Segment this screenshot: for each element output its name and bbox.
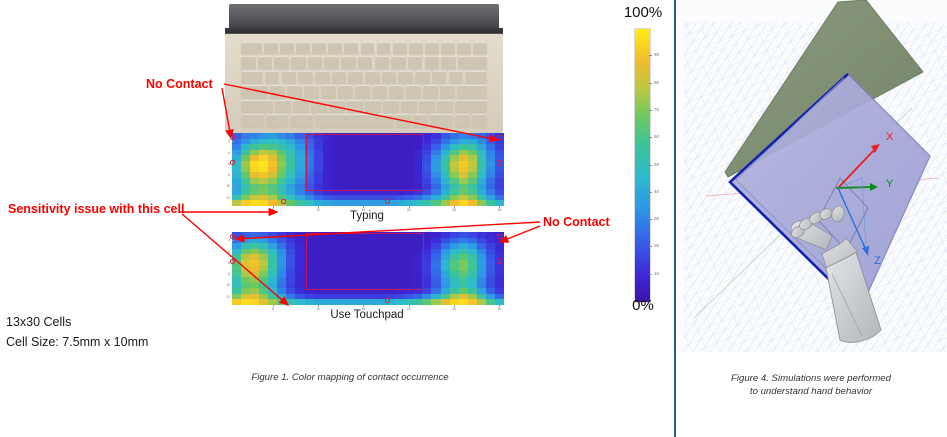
keyboard-key [348, 71, 363, 83]
keyboard-key [241, 85, 268, 97]
keyboard-key [241, 114, 264, 126]
heatmap-typing: 51015202530 24681012 Typing [228, 131, 506, 221]
keyboard-key [457, 85, 487, 97]
keyboard-key [361, 42, 375, 54]
marker-left2-touchpad [230, 259, 235, 264]
keyboard-key [458, 56, 487, 68]
marker-no-contact-r2-typing [497, 160, 502, 165]
keyboard-key [241, 56, 256, 68]
laptop-base [225, 34, 503, 136]
heatmap-use-touchpad-y-axis: 24681012 [219, 232, 231, 305]
keyboard-key [241, 71, 263, 83]
keyboard-key [423, 85, 438, 97]
spec-grid-size: 13x30 Cells [6, 312, 148, 332]
keyboard-row [241, 114, 487, 126]
keyboard-key [455, 100, 487, 112]
y-tick-mark [232, 285, 234, 286]
laptop-lid [229, 4, 499, 30]
keyboard-key [311, 100, 327, 112]
keyboard-key [425, 42, 439, 54]
keyboard-key [241, 42, 262, 54]
colorbar-tick-mark [649, 219, 652, 220]
y-tick-mark [232, 252, 234, 253]
keyboard-key [457, 42, 471, 54]
keyboard-key [415, 71, 430, 83]
right-figure-panel: X Y Z Figure 4. Simulations were perform… [676, 0, 947, 437]
keyboard-key [372, 85, 387, 97]
keyboard-key [293, 100, 309, 112]
colorbar-ticks: 908070605040302010 [649, 28, 668, 301]
keyboard-key [321, 85, 336, 97]
keyboard-key [329, 100, 345, 112]
keyboard-key [419, 100, 435, 112]
keyboard-key [312, 42, 326, 54]
keyboard-key [274, 56, 289, 68]
marker-sensitivity-left-typing [230, 160, 235, 165]
keyboard-key [375, 56, 390, 68]
spec-cell-size: Cell Size: 7.5mm x 10mm [6, 332, 148, 352]
colorbar-tick-label: 30 [654, 216, 659, 221]
y-tick-label: 4 [228, 151, 230, 155]
y-tick-label: 8 [228, 173, 230, 177]
colorbar-tick-label: 70 [654, 107, 659, 112]
keyboard-key [308, 56, 323, 68]
colorbar-tick-mark [649, 55, 652, 56]
keyboard-key [266, 114, 289, 126]
heatmap-use-touchpad-label: Use Touchpad [228, 309, 506, 321]
keyboard-key [355, 85, 370, 97]
y-tick-label: 10 [226, 283, 230, 287]
colorbar-tick-label: 60 [654, 134, 659, 139]
colorbar-tick-label: 50 [654, 162, 659, 167]
keyboard-key [365, 71, 380, 83]
y-tick-mark [232, 175, 234, 176]
keyboard-key [449, 71, 464, 83]
keyboard-key [473, 42, 487, 54]
keyboard-key [315, 114, 393, 126]
keyboard-key [377, 42, 391, 54]
colorbar-min-label: 0% [618, 297, 668, 314]
y-tick-mark [232, 186, 234, 187]
keyboard-key [347, 100, 363, 112]
y-tick-label: 12 [226, 295, 230, 299]
keyboard-key [408, 56, 423, 68]
keyboard-key [324, 56, 339, 68]
keyboard-key [393, 42, 407, 54]
colorbar-tick-mark [649, 83, 652, 84]
keyboard-key [437, 100, 453, 112]
figure4-caption-line1: Figure 4. Simulations were performed [686, 372, 936, 385]
y-tick-mark [232, 198, 234, 199]
keyboard-key [465, 71, 487, 83]
keyboard-row [241, 56, 487, 68]
keyboard-key [328, 42, 342, 54]
heatmap-typing-y-axis: 24681012 [219, 133, 231, 206]
colorbar-tick-label: 90 [654, 52, 659, 57]
axis-label-x: X [886, 131, 894, 143]
y-tick-mark [232, 297, 234, 298]
colorbar-tick-label: 20 [654, 243, 659, 248]
figure4-caption: Figure 4. Simulations were performed to … [686, 372, 936, 398]
axis-label-z: Z [874, 255, 881, 267]
y-tick-label: 8 [228, 272, 230, 276]
keyboard-key [264, 42, 278, 54]
y-tick-label: 4 [228, 250, 230, 254]
colorbar-container: 100% 908070605040302010 0% [612, 4, 668, 316]
keyboard-key [344, 42, 358, 54]
keyboard-key [441, 42, 455, 54]
heatmap-use-touchpad: 51015202530 24681012 Use Touchpad [228, 230, 506, 320]
colorbar-tick-mark [649, 246, 652, 247]
annotation-no-contact-top: No Contact [146, 77, 213, 91]
keyboard-key [275, 100, 291, 112]
y-tick-label: 10 [226, 184, 230, 188]
annotation-sensitivity-issue: Sensitivity issue with this cell [8, 202, 184, 216]
marker-no-contact-tl-typing [230, 135, 235, 140]
y-tick-label: 2 [228, 238, 230, 242]
keyboard-row [241, 42, 487, 54]
keyboard-key [291, 56, 306, 68]
marker-no-contact-tr-typing [497, 135, 502, 140]
marker-no-contact-r2-touchpad [497, 259, 502, 264]
keyboard-key [455, 114, 470, 126]
keyboard-key [287, 85, 302, 97]
y-tick-mark [232, 274, 234, 275]
y-tick-mark [232, 153, 234, 154]
simulation-viewport: X Y Z [676, 0, 947, 352]
keyboard-key [432, 71, 447, 83]
marker-sensitivity-cell-typing [281, 199, 286, 204]
keyboard-key [304, 85, 319, 97]
keyboard-key [282, 71, 297, 83]
colorbar-tick-mark [649, 137, 652, 138]
keyboard-row [241, 100, 487, 112]
y-tick-label: 12 [226, 196, 230, 200]
colorbar-max-label: 100% [618, 4, 668, 21]
keyboard-key [472, 114, 487, 126]
y-tick-mark [232, 240, 234, 241]
left-figure-panel: 51015202530 24681012 Typing 51015202530 … [0, 0, 668, 437]
keyboard-key [341, 56, 356, 68]
keyboard-key [391, 56, 406, 68]
figure4-caption-line2: to understand hand behavior [686, 385, 936, 398]
keyboard-key [398, 71, 413, 83]
keyboard-key [298, 71, 313, 83]
keyboard-key [441, 56, 456, 68]
keyboard-key [401, 100, 417, 112]
marker-no-contact-tr-touchpad [497, 234, 502, 239]
keyboard-key [358, 56, 373, 68]
colorbar-tick-label: 80 [654, 80, 659, 85]
keyboard-key [241, 100, 273, 112]
keyboard-key [430, 114, 453, 126]
keyboard-key [315, 71, 330, 83]
keyboard-key [280, 42, 294, 54]
laptop-photo [225, 4, 503, 136]
laptop-keyboard [241, 42, 487, 130]
keyboard-key [258, 56, 273, 68]
touchpad-region-outline-touchpad [306, 233, 424, 290]
colorbar-tick-mark [649, 192, 652, 193]
colorbar-tick-label: 10 [654, 271, 659, 276]
slide-root: 51015202530 24681012 Typing 51015202530 … [0, 0, 947, 437]
colorbar-tick-mark [649, 165, 652, 166]
keyboard-key [425, 56, 440, 68]
heatmap-typing-label: Typing [228, 210, 506, 222]
colorbar-tick-mark [649, 274, 652, 275]
colorbar-tick-label: 40 [654, 189, 659, 194]
keyboard-key [383, 100, 399, 112]
keyboard-key [365, 100, 381, 112]
marker-sensitivity-cell-touchpad [281, 298, 286, 303]
keyboard-key [406, 85, 421, 97]
figure1-caption: Figure 1. Color mapping of contact occur… [150, 372, 550, 383]
keyboard-row [241, 71, 487, 83]
y-tick-label: 2 [228, 139, 230, 143]
colorbar-tick-mark [649, 110, 652, 111]
keyboard-key [440, 85, 455, 97]
keyboard-key [413, 114, 428, 126]
keyboard-key [265, 71, 280, 83]
axis-label-y: Y [886, 178, 894, 190]
y-tick-mark [232, 141, 234, 142]
keyboard-key [296, 42, 310, 54]
grid-specs: 13x30 Cells Cell Size: 7.5mm x 10mm [6, 312, 148, 352]
keyboard-key [396, 114, 411, 126]
keyboard-row [241, 85, 487, 97]
keyboard-key [409, 42, 423, 54]
marker-bottom-mid-typing [385, 199, 390, 204]
keyboard-key [290, 114, 313, 126]
keyboard-key [382, 71, 397, 83]
keyboard-key [332, 71, 347, 83]
keyboard-key [270, 85, 285, 97]
marker-bottom-mid-touchpad [385, 298, 390, 303]
simulation-3d-scene: X Y Z [676, 0, 947, 352]
keyboard-key [389, 85, 404, 97]
marker-no-contact-tl-touchpad [230, 234, 235, 239]
annotation-no-contact-bottom: No Contact [543, 215, 610, 229]
touchpad-region-outline-typing [306, 134, 424, 191]
keyboard-key [338, 85, 353, 97]
